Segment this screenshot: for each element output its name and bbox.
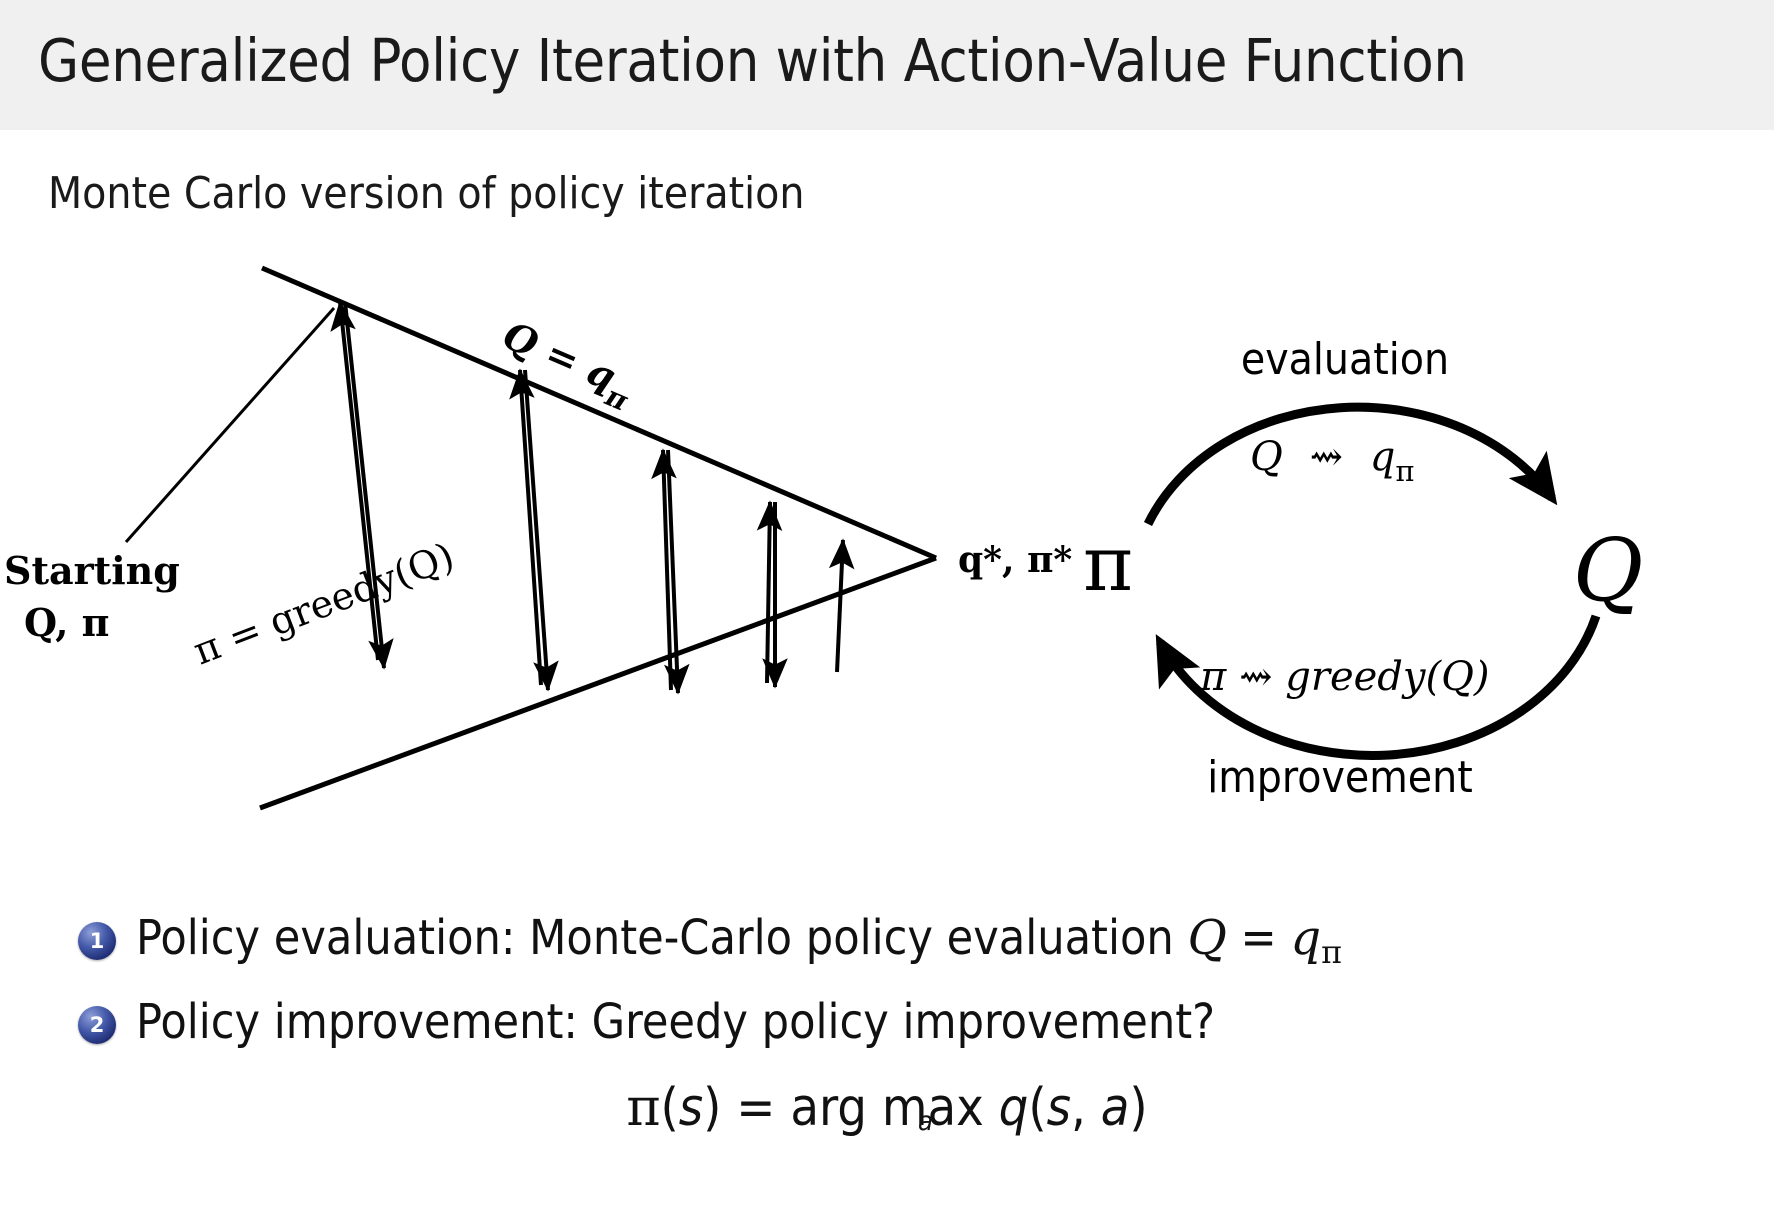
wedge-arrow-up-4 — [767, 502, 770, 683]
starting-label-line2: Q, π — [24, 600, 109, 645]
gpi-cycle-diagram: evaluation Q ⇝ qπ π Q π ⇝ greedy(Q) impr… — [1000, 270, 1700, 810]
list-item-1-math-lhs: Q — [1187, 910, 1226, 966]
list-item-1-plain: Policy evaluation: Monte-Carlo policy ev… — [136, 910, 1187, 966]
starting-pointer-line — [126, 308, 334, 542]
list-item-1-math-rhs-sub: π — [1321, 935, 1342, 971]
page-title: Generalized Policy Iteration with Action… — [38, 26, 1467, 95]
list-bullet-1: 1 — [78, 922, 116, 960]
cycle-improvement-label: improvement — [1207, 752, 1473, 803]
wedge-arrow-up-5 — [837, 540, 843, 672]
formula-equals: = — [721, 1078, 790, 1138]
formula-s2: s — [1047, 1078, 1071, 1138]
formula-a2: a — [1101, 1078, 1130, 1138]
cycle-node-pi: π — [1083, 519, 1133, 608]
list-item-1-math-eq: = — [1227, 910, 1291, 966]
formula-q: q — [999, 1078, 1029, 1138]
starting-label-line1: Starting — [4, 548, 180, 593]
slide-subtitle: Monte Carlo version of policy iteration — [48, 168, 804, 219]
formula-argmax: maxa — [867, 1078, 984, 1138]
formula-open-paren: ( — [1028, 1078, 1046, 1138]
formula-close-paren: ) — [1129, 1078, 1147, 1138]
list-item-1-math-rhs: q — [1290, 910, 1321, 966]
enumerated-list: 1 Policy evaluation: Monte-Carlo policy … — [78, 910, 1678, 1073]
gpi-wedge-diagram: Starting Q, π Q = qπ π = greedy(Q) q*, π… — [0, 250, 1060, 810]
formula-s1: s — [679, 1078, 703, 1138]
formula-pi: π — [626, 1078, 660, 1138]
formula-comma: , — [1071, 1078, 1101, 1138]
list-item[interactable]: 2 Policy improvement: Greedy policy impr… — [78, 994, 1678, 1051]
cycle-evaluation-label: evaluation — [1241, 334, 1449, 385]
list-bullet-2: 2 — [78, 1006, 116, 1044]
figure-area: Starting Q, π Q = qπ π = greedy(Q) q*, π… — [0, 250, 1774, 790]
formula-argmax-subscript: a — [867, 1106, 984, 1137]
slide-header-bar: Generalized Policy Iteration with Action… — [0, 0, 1774, 130]
list-item-2-plain: Policy improvement: Greedy policy improv… — [136, 994, 1215, 1050]
list-item-2-text: Policy improvement: Greedy policy improv… — [136, 994, 1215, 1051]
cycle-improvement-arc-label: π ⇝ greedy(Q) — [1199, 654, 1490, 700]
lower-edge-label: π = greedy(Q) — [187, 534, 460, 674]
list-item[interactable]: 1 Policy evaluation: Monte-Carlo policy … — [78, 910, 1678, 972]
formula-close-s: ) — [703, 1078, 721, 1138]
formula-open-s: ( — [661, 1078, 679, 1138]
list-item-1-text: Policy evaluation: Monte-Carlo policy ev… — [136, 910, 1342, 972]
cycle-evaluation-arc-label: Q ⇝ qπ — [1250, 434, 1414, 488]
formula-arg: arg — [790, 1078, 867, 1138]
policy-formula: π(s) = arg maxa q(s, a) — [0, 1078, 1774, 1138]
cycle-node-q: Q — [1573, 521, 1644, 621]
